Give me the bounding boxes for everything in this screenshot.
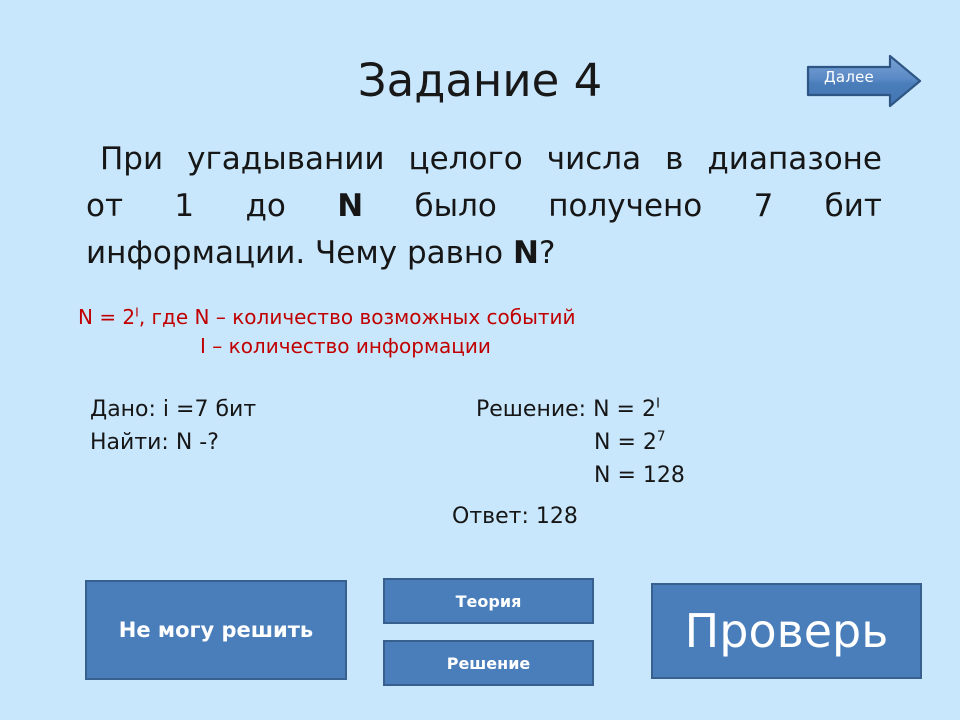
question-line-3: информации. Чему равно N? <box>86 230 882 277</box>
answer-line: Ответ: 128 <box>452 492 782 533</box>
question-line-1: При угадывании целого числа в диапазоне <box>86 136 882 183</box>
cant-solve-button[interactable]: Не могу решить <box>85 580 347 680</box>
formula-line-2: I – количество информации <box>0 332 960 361</box>
question-line-2: от 1 до N было получено 7 бит <box>86 183 882 230</box>
slide-canvas: Далее Задание 4 При угадывании целого чи… <box>0 0 960 720</box>
question-line-3-variable: N <box>513 235 539 271</box>
solution-line-2-exponent: 7 <box>657 429 666 445</box>
solution-line-1-exponent: I <box>656 396 660 412</box>
formula-line-1-suffix: , где N – количество возможных событий <box>139 305 576 329</box>
formula-line-1-prefix: N = 2 <box>78 305 135 329</box>
solution-line-3: N = 128 <box>452 459 782 492</box>
given-block: Дано: i =7 бит Найти: N -? <box>90 393 256 459</box>
question-text: При угадывании целого числа в диапазоне … <box>86 136 882 277</box>
question-line-1-text: При угадывании целого числа в диапазоне <box>100 141 882 177</box>
solution-line-2-prefix: N = 2 <box>594 430 657 455</box>
formula-line-1: N = 2I, где N – количество возможных соб… <box>0 303 960 332</box>
formula-block: N = 2I, где N – количество возможных соб… <box>0 303 960 361</box>
solution-line-1-prefix: Решение: N = 2 <box>476 397 656 422</box>
given-line-2: Найти: N -? <box>90 426 256 459</box>
solution-line-1: Решение: N = 2I <box>452 393 782 426</box>
solution-line-2: N = 27 <box>452 426 782 459</box>
solution-button[interactable]: Решение <box>383 640 594 686</box>
question-line-3-after: ? <box>539 235 555 271</box>
question-line-2-before: от 1 до <box>86 188 337 224</box>
theory-button[interactable]: Теория <box>383 578 594 624</box>
question-line-3-before: информации. Чему равно <box>86 235 513 271</box>
given-line-1: Дано: i =7 бит <box>90 393 256 426</box>
question-line-2-after: было получено 7 бит <box>363 188 882 224</box>
page-title: Задание 4 <box>0 54 960 108</box>
check-button[interactable]: Проверь <box>651 583 922 679</box>
solution-block: Решение: N = 2I N = 27 N = 128 Ответ: 12… <box>452 393 782 533</box>
question-line-2-variable: N <box>337 188 363 224</box>
